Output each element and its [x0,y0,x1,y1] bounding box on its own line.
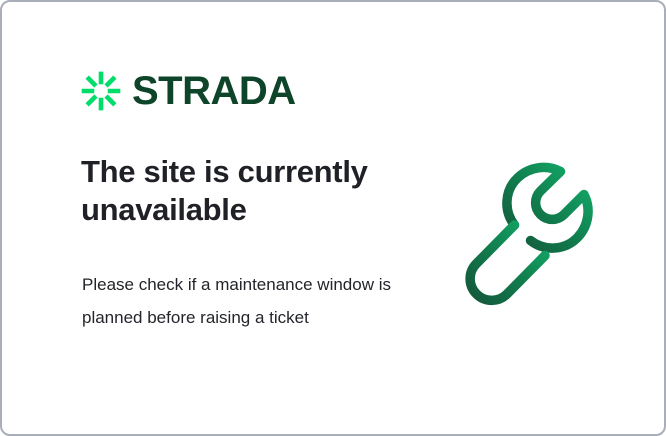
page-description: Please check if a maintenance window is … [82,268,392,334]
wrench-icon [454,152,622,312]
brand-logo: STRADA [80,70,296,112]
page-title: The site is currently unavailable [81,153,421,229]
status-page: STRADA The site is currently unavailable… [0,0,666,436]
asterisk-star-icon [80,70,122,112]
brand-wordmark: STRADA [132,71,296,111]
